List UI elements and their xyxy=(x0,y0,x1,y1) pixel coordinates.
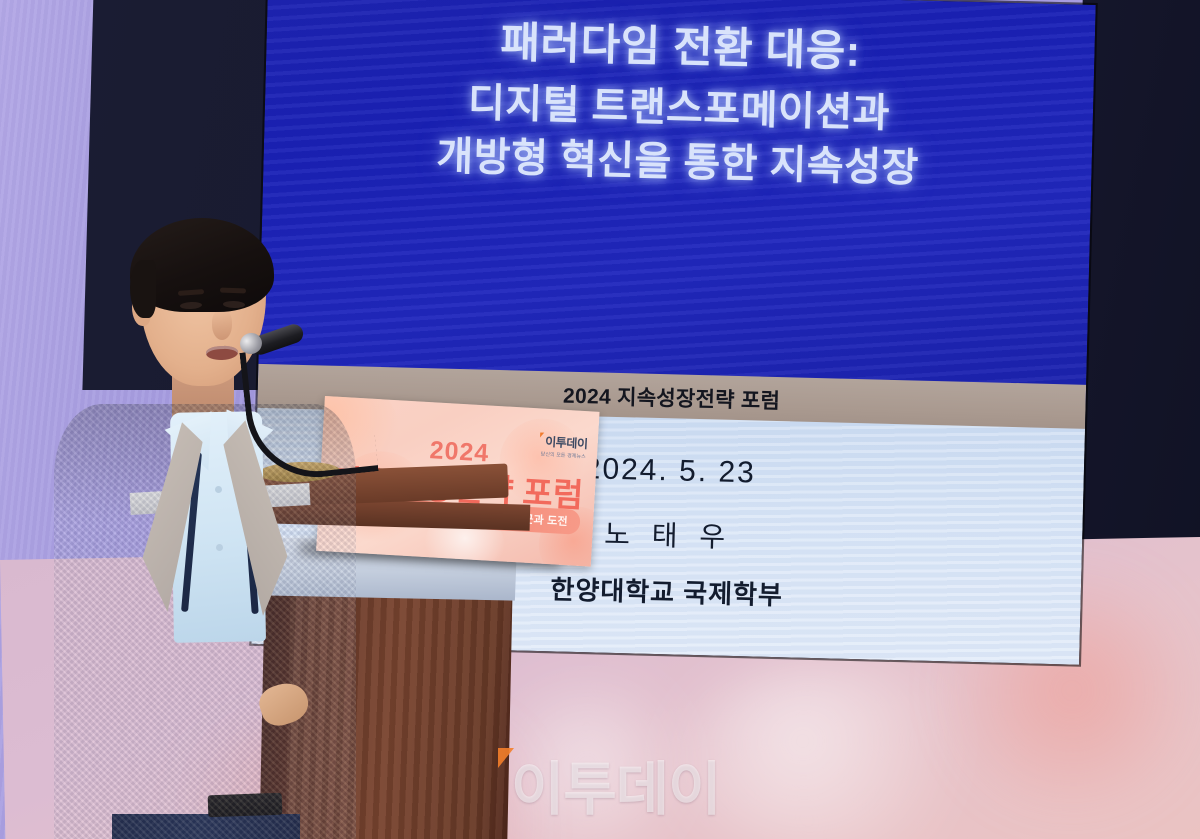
sign-logo: 이투데이 당신의 모든 경제뉴스 xyxy=(539,432,588,460)
speaker-nose xyxy=(212,310,232,340)
speaker-hair-side xyxy=(130,260,156,318)
speaker-shirt-button xyxy=(215,486,222,493)
sign-logo-text: 이투데이 xyxy=(545,435,588,451)
conference-photo-stage: 패러다임 전환 대응: 디지털 트랜스포메이션과 개방형 혁신을 통한 지속성장… xyxy=(0,0,1200,839)
slide-title: 패러다임 전환 대응: 디지털 트랜스포메이션과 개방형 혁신을 통한 지속성장 xyxy=(263,10,1095,199)
speaker-shirt-button xyxy=(216,544,223,551)
speaker-figure xyxy=(60,214,350,839)
etoday-logo-mark: 이투데이 xyxy=(540,432,588,452)
speaker-eyebrow-right xyxy=(220,288,246,294)
